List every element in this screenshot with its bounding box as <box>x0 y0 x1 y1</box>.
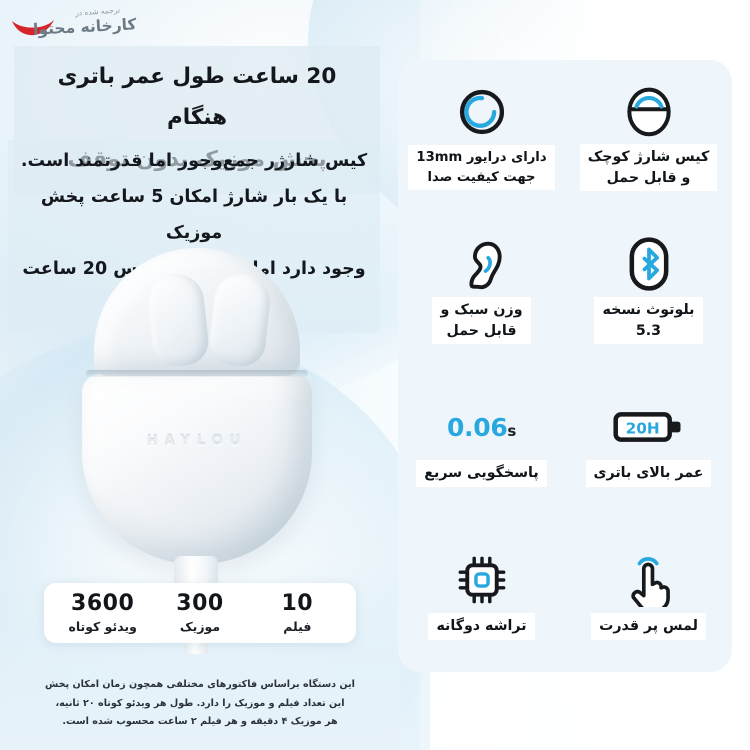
earbud-right <box>207 271 272 368</box>
stat-label: ویدئو کوتاه <box>54 619 151 634</box>
feature-label-line-1: عمر بالای باتری <box>594 463 704 484</box>
stat-item: 10 فیلم <box>249 592 346 633</box>
response-time-value: 0.06 <box>447 413 507 442</box>
touch-hand-icon <box>623 551 675 609</box>
dual-chip-icon <box>456 551 508 609</box>
feature-label-line-1: وزن سبک و <box>440 300 522 321</box>
feature-lightweight: وزن سبک و قابل حمل <box>398 213 565 366</box>
footnote-block: این دستگاه براساس فاکتورهای مختلفی همچون… <box>22 676 378 732</box>
stat-value: 10 <box>249 592 346 615</box>
feature-label-line-1: کیس شارژ کوچک <box>588 147 710 168</box>
feature-card: کیس شارژ کوچک و قابل حمل دارای درایور 13… <box>398 60 732 672</box>
footnote-line-3: هر موزیک ۴ دقیقه و هر فیلم ۲ ساعت محسوب … <box>22 713 378 732</box>
feature-label: لمس پر قدرت <box>591 613 706 640</box>
charging-case-icon <box>624 82 674 140</box>
earbud-left <box>145 271 210 368</box>
feature-label: وزن سبک و قابل حمل <box>432 297 530 344</box>
feature-label-line-1: دارای درایور 13mm <box>416 148 546 167</box>
feature-label-line-1: لمس پر قدرت <box>599 616 698 637</box>
product-image-earbuds-case: HAYLOU <box>72 248 322 578</box>
response-time-value-wrap: 0.06s <box>447 415 516 440</box>
feature-charging-case: کیس شارژ کوچک و قابل حمل <box>565 60 732 213</box>
feature-label-line-2: 5.3 <box>602 321 694 342</box>
battery-20h-icon: 20H <box>613 398 685 456</box>
subcopy-line-1: کیس شارژر جمع‌وجور اما قدرتمند است. <box>20 144 368 180</box>
stat-item: 300 موزیک <box>151 592 248 633</box>
feature-label-line-1: بلوتوث نسخه <box>602 300 694 321</box>
feature-battery-life: 20H عمر بالای باتری <box>565 366 732 519</box>
feature-label: پاسخگویی سریع <box>416 460 546 487</box>
feature-label-line-1: تراشه دوگانه <box>436 616 526 637</box>
headline-line-1: 20 ساعت طول عمر باتری هنگام <box>24 56 370 139</box>
feature-label-line-1: پاسخگویی سریع <box>424 463 538 484</box>
bluetooth-icon <box>627 235 671 293</box>
stat-item: 3600 ویدئو کوتاه <box>54 592 151 633</box>
feature-audio-driver: دارای درایور 13mm جهت کیفیت صدا <box>398 60 565 213</box>
stat-value: 3600 <box>54 592 151 615</box>
feature-label: بلوتوث نسخه 5.3 <box>594 297 702 344</box>
subcopy-line-2: با یک بار شارژ امکان 5 ساعت پخش موزیک <box>20 180 368 252</box>
feature-label: تراشه دوگانه <box>428 613 534 640</box>
feature-label: دارای درایور 13mm جهت کیفیت صدا <box>408 145 554 189</box>
audio-driver-icon <box>456 83 508 141</box>
playback-stats-card: 3600 ویدئو کوتاه 300 موزیک 10 فیلم <box>44 583 356 643</box>
feature-label-line-2: جهت کیفیت صدا <box>416 168 546 187</box>
product-brand-label: HAYLOU <box>82 434 312 449</box>
footnote-line-2: این تعداد فیلم و موزیک را دارد. طول هر و… <box>22 695 378 714</box>
stat-value: 300 <box>151 592 248 615</box>
ear-icon <box>459 235 505 293</box>
fast-response-icon: 0.06s <box>447 398 516 456</box>
case-seam <box>86 370 308 377</box>
feature-bluetooth: بلوتوث نسخه 5.3 <box>565 213 732 366</box>
feature-label: کیس شارژ کوچک و قابل حمل <box>580 144 718 191</box>
feature-label-line-2: و قابل حمل <box>588 168 710 189</box>
feature-dual-chip: تراشه دوگانه <box>398 519 565 672</box>
svg-text:20H: 20H <box>625 420 659 438</box>
stat-label: موزیک <box>151 619 248 634</box>
stat-label: فیلم <box>249 619 346 634</box>
feature-touch-control: لمس پر قدرت <box>565 519 732 672</box>
case-lid <box>94 248 300 376</box>
response-time-unit: s <box>507 422 516 440</box>
feature-label: عمر بالای باتری <box>586 460 712 487</box>
feature-fast-response: 0.06s پاسخگویی سریع <box>398 366 565 519</box>
footnote-line-1: این دستگاه براساس فاکتورهای مختلفی همچون… <box>22 676 378 695</box>
watermark-logo: ترجمه شده در کارخانه محتوا <box>8 4 148 48</box>
feature-label-line-2: قابل حمل <box>440 321 522 342</box>
infographic-stage: ترجمه شده در کارخانه محتوا 20 ساعت طول ع… <box>0 0 750 750</box>
case-body: HAYLOU <box>82 374 312 564</box>
